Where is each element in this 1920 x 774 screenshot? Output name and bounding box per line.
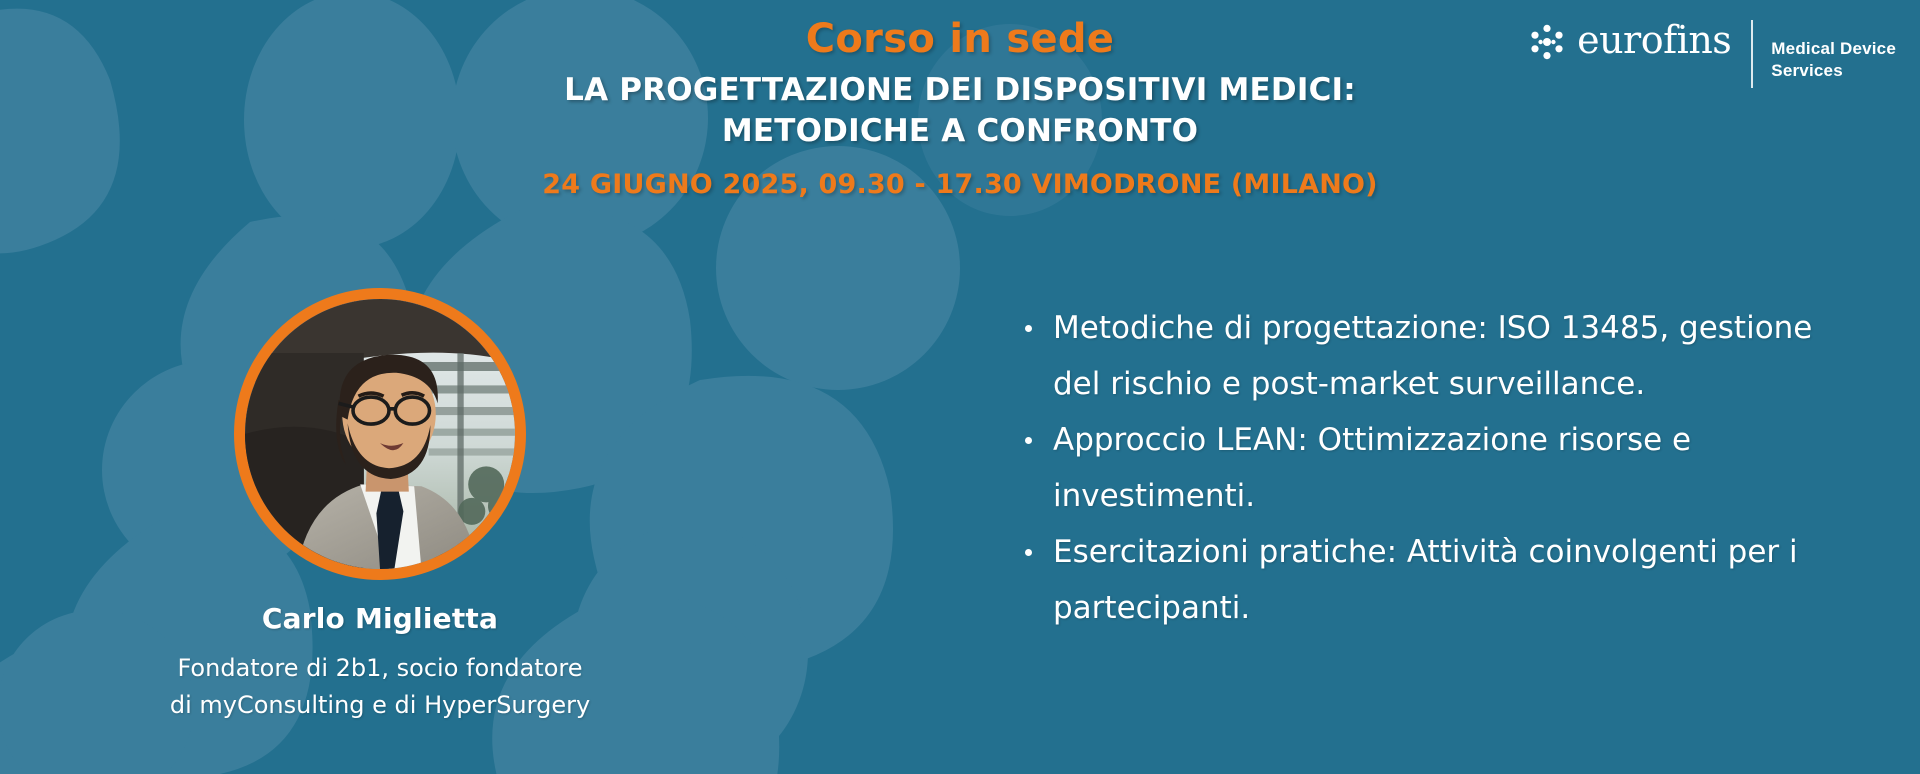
- topic-text: Approccio LEAN: Ottimizzazione risorse e…: [1053, 422, 1691, 514]
- logo-division-name: Medical Device Services: [1771, 38, 1896, 82]
- speaker-block: Carlo Miglietta Fondatore di 2b1, socio …: [120, 288, 640, 724]
- topic-text: Metodiche di progettazione: ISO 13485, g…: [1053, 310, 1812, 402]
- event-date-location: 24 GIUGNO 2025, 09.30 - 17.30 VIMODRONE …: [430, 168, 1490, 202]
- course-format-kicker: Corso in sede: [430, 14, 1490, 64]
- speaker-photo: [245, 299, 515, 569]
- speaker-name: Carlo Miglietta: [120, 602, 640, 636]
- page-title: LA PROGETTAZIONE DEI DISPOSITIVI MEDICI:…: [430, 70, 1490, 152]
- eurofins-logo: eurofins Medical Device Services: [1527, 18, 1896, 90]
- eurofins-dots-icon: [1527, 22, 1567, 62]
- logo-divider: [1751, 20, 1753, 88]
- eurofins-wordmark: eurofins: [1577, 18, 1731, 62]
- topics-list: Metodiche di progettazione: ISO 13485, g…: [1015, 300, 1855, 636]
- bullet-dot-icon: [1025, 437, 1032, 444]
- header-block: Corso in sede LA PROGETTAZIONE DEI DISPO…: [430, 14, 1490, 202]
- course-promo-banner: eurofins Medical Device Services Corso i…: [0, 0, 1920, 774]
- bullet-dot-icon: [1025, 325, 1032, 332]
- speaker-role: Fondatore di 2b1, socio fondatore di myC…: [120, 650, 640, 724]
- list-item: Esercitazioni pratiche: Attività coinvol…: [1015, 524, 1855, 636]
- bullet-dot-icon: [1025, 549, 1032, 556]
- topic-text: Esercitazioni pratiche: Attività coinvol…: [1053, 534, 1798, 626]
- list-item: Approccio LEAN: Ottimizzazione risorse e…: [1015, 412, 1855, 524]
- list-item: Metodiche di progettazione: ISO 13485, g…: [1015, 300, 1855, 412]
- speaker-avatar: [234, 288, 526, 580]
